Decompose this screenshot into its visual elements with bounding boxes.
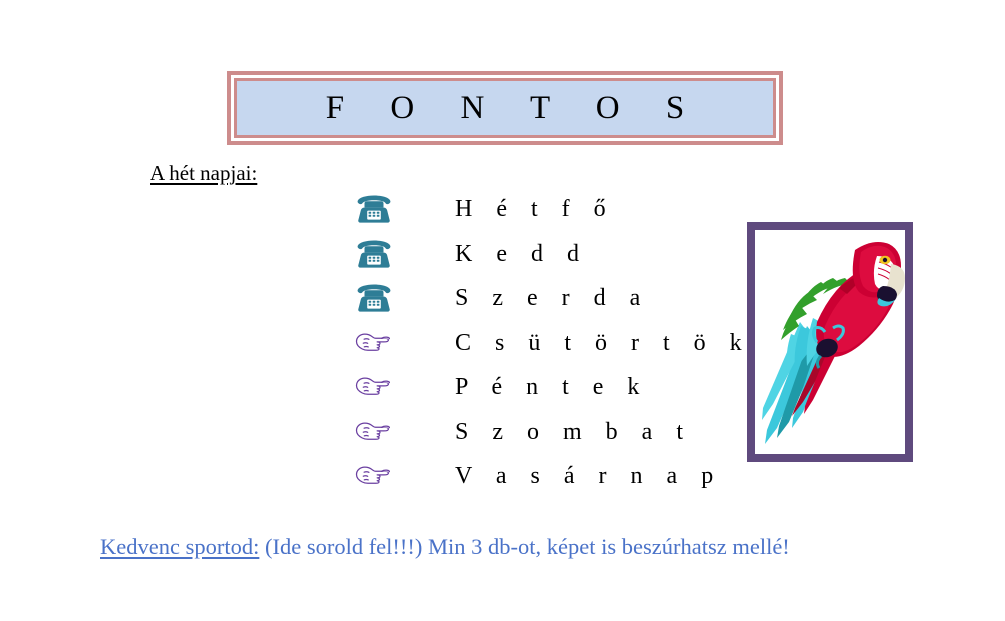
day-label: C s ü t ö r t ö k	[455, 328, 751, 358]
footer-note: Kedvenc sportod: (Ide sorold fel!!!) Min…	[100, 532, 930, 562]
telephone-icon	[352, 282, 396, 314]
list-item: S z o m b a t	[352, 416, 752, 461]
pointing-hand-icon	[352, 416, 396, 448]
list-item: V a s á r n a p	[352, 460, 752, 505]
day-label: V a s á r n a p	[455, 461, 722, 491]
subheading-days-of-week: A hét napjai:	[150, 161, 257, 186]
list-item: K e d d	[352, 238, 752, 283]
title-banner-inner: F O N T O S	[234, 78, 776, 138]
list-item: P é n t e k	[352, 371, 752, 416]
pointing-hand-icon	[352, 327, 396, 359]
footer-note-label: Kedvenc sportod:	[100, 534, 259, 559]
pointing-hand-icon	[352, 371, 396, 403]
telephone-icon	[352, 193, 396, 225]
pointing-hand-icon	[352, 460, 396, 492]
list-item: C s ü t ö r t ö k	[352, 327, 752, 372]
list-item: H é t f ő	[352, 193, 752, 238]
day-label: K e d d	[455, 239, 588, 269]
title-banner: F O N T O S	[227, 71, 783, 145]
day-label: H é t f ő	[455, 194, 615, 224]
days-of-week-list: H é t f ő K e d d	[352, 193, 752, 505]
list-item: S z e r d a	[352, 282, 752, 327]
footer-note-text: (Ide sorold fel!!!) Min 3 db-ot, képet i…	[259, 534, 789, 559]
macaw-parrot-icon	[755, 230, 905, 454]
day-label: S z e r d a	[455, 283, 649, 313]
day-label: S z o m b a t	[455, 417, 692, 447]
parrot-image-frame	[747, 222, 913, 462]
day-label: P é n t e k	[455, 372, 648, 402]
page-title: F O N T O S	[307, 92, 703, 125]
telephone-icon	[352, 238, 396, 270]
